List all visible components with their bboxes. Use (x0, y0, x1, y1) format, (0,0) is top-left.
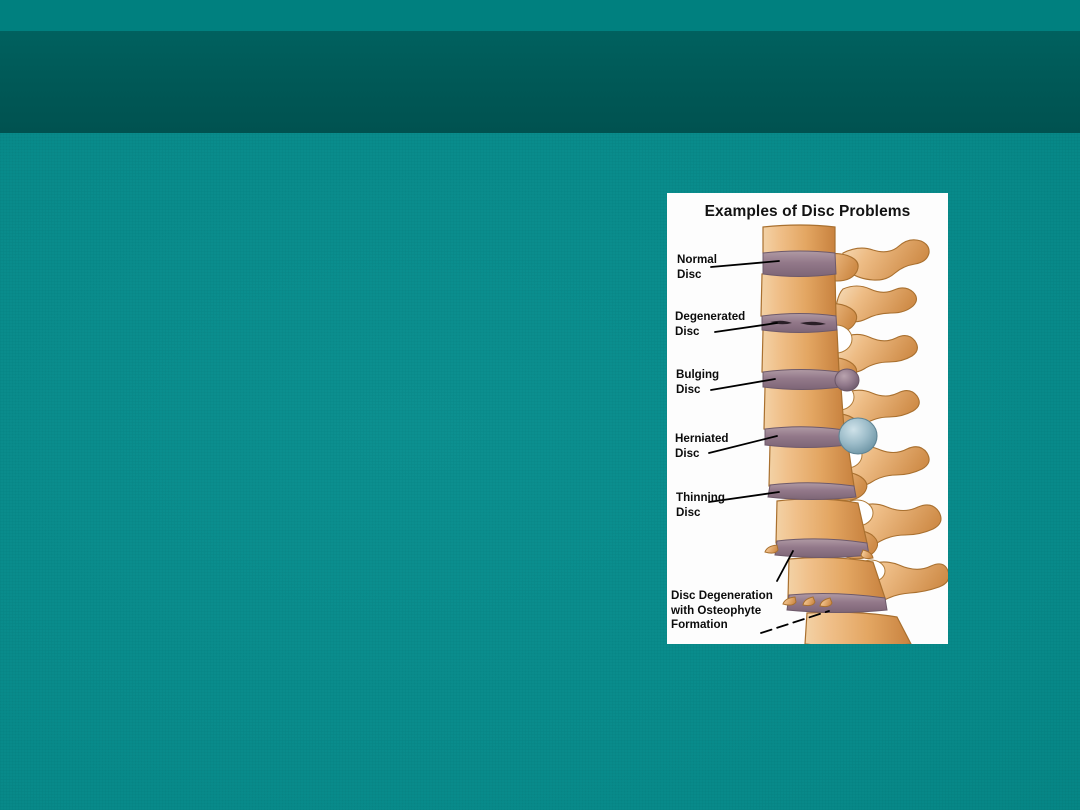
callout-line-1: Herniated (675, 432, 728, 445)
disc-degenerated-osteophyte-lower (787, 594, 887, 613)
bulge-protrusion (835, 369, 859, 391)
figure-title: Examples of Disc Problems (667, 203, 948, 221)
callout-herniated-disc: Herniated Disc (675, 432, 728, 461)
callout-normal-disc: Normal Disc (677, 253, 717, 282)
disc-problems-figure: Examples of Disc Problems Normal Disc De… (667, 193, 948, 644)
callout-line-2: Disc (675, 325, 700, 338)
callout-line-1: Disc Degeneration (671, 589, 773, 602)
callout-line-2: with Osteophyte (671, 604, 761, 617)
slide-header-band (0, 31, 1080, 133)
callout-line-2: Disc (676, 383, 701, 396)
callout-bulging-disc: Bulging Disc (676, 368, 719, 397)
callout-line-2: Disc (675, 447, 700, 460)
disc-normal (763, 251, 836, 277)
disc-degenerated-osteophyte-upper (775, 539, 869, 558)
callout-line-3: Formation (671, 618, 728, 631)
top-accent-strip (0, 0, 1080, 31)
callout-line-2: Disc (677, 268, 702, 281)
callout-osteophyte-formation: Disc Degeneration with Osteophyte Format… (671, 589, 773, 633)
disc-thinning (768, 483, 856, 500)
callout-thinning-disc: Thinning Disc (676, 491, 725, 520)
disc-herniated (765, 427, 847, 448)
callout-line-1: Normal (677, 253, 717, 266)
callout-line-1: Thinning (676, 491, 725, 504)
callout-degenerated-disc: Degenerated Disc (675, 310, 745, 339)
callout-line-1: Degenerated (675, 310, 745, 323)
callout-line-1: Bulging (676, 368, 719, 381)
slide-canvas: Examples of Disc Problems Normal Disc De… (0, 0, 1080, 810)
callout-line-2: Disc (676, 506, 701, 519)
herniation-nucleus (839, 418, 877, 454)
